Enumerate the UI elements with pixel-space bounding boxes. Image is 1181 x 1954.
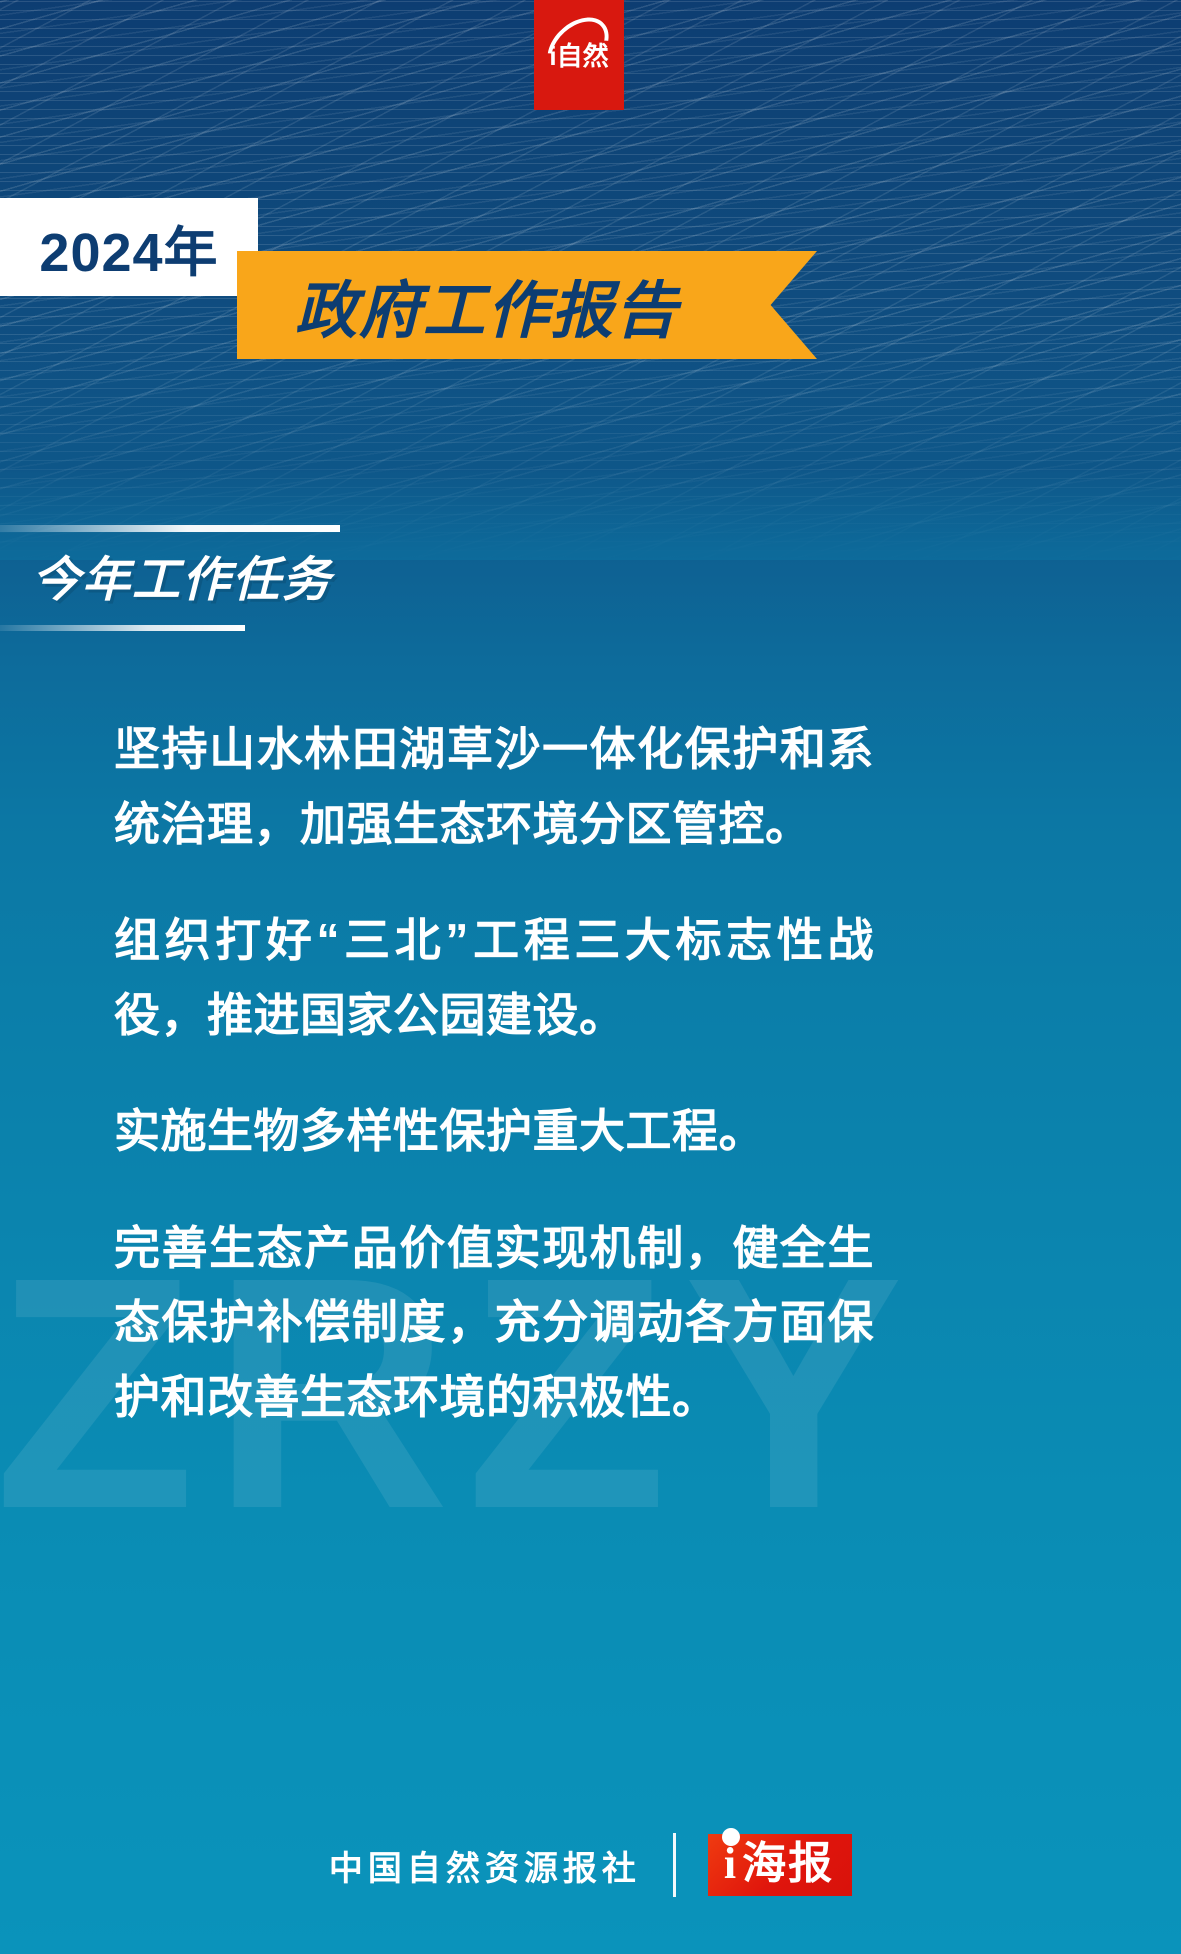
footer-divider	[673, 1833, 676, 1897]
iposter-badge: i 海报	[708, 1834, 852, 1896]
task-paragraph: 组织打好“三北”工程三大标志性战役，推进国家公园建设。	[114, 903, 874, 1052]
task-list: 坚持山水林田湖草沙一体化保护和系统治理，加强生态环境分区管控。 组织打好“三北”…	[114, 712, 874, 1476]
section-rule-bottom	[0, 625, 245, 631]
year-badge: 2024年	[0, 198, 258, 296]
section-heading: 今年工作任务	[32, 540, 332, 610]
badge-i-letter: i	[724, 1842, 736, 1886]
logo-label: i自然	[541, 43, 617, 69]
report-title-label: 政府工作报告	[295, 260, 679, 350]
logo-inner: i自然	[541, 13, 617, 89]
publisher-label: 中国自然资源报社	[329, 1841, 641, 1890]
poster-canvas: ZRZY i自然 2024年 政府工作报告 今年工作任务 坚持山水林田湖草沙一体…	[0, 0, 1181, 1954]
footer: 中国自然资源报社 i 海报	[0, 1822, 1181, 1908]
izran-logo: i自然	[534, 0, 624, 110]
report-title-banner: 政府工作报告	[237, 251, 817, 359]
task-paragraph: 坚持山水林田湖草沙一体化保护和系统治理，加强生态环境分区管控。	[114, 712, 874, 861]
section-rule-top	[0, 525, 340, 532]
badge-dot-icon	[722, 1828, 740, 1846]
task-paragraph: 实施生物多样性保护重大工程。	[114, 1094, 874, 1169]
year-label: 2024年	[39, 208, 218, 287]
task-paragraph: 完善生态产品价值实现机制，健全生态保护补偿制度，充分调动各方面保护和改善生态环境…	[114, 1211, 874, 1435]
badge-label: 海报	[742, 1842, 834, 1886]
badge-i-glyph: i	[724, 1839, 736, 1888]
